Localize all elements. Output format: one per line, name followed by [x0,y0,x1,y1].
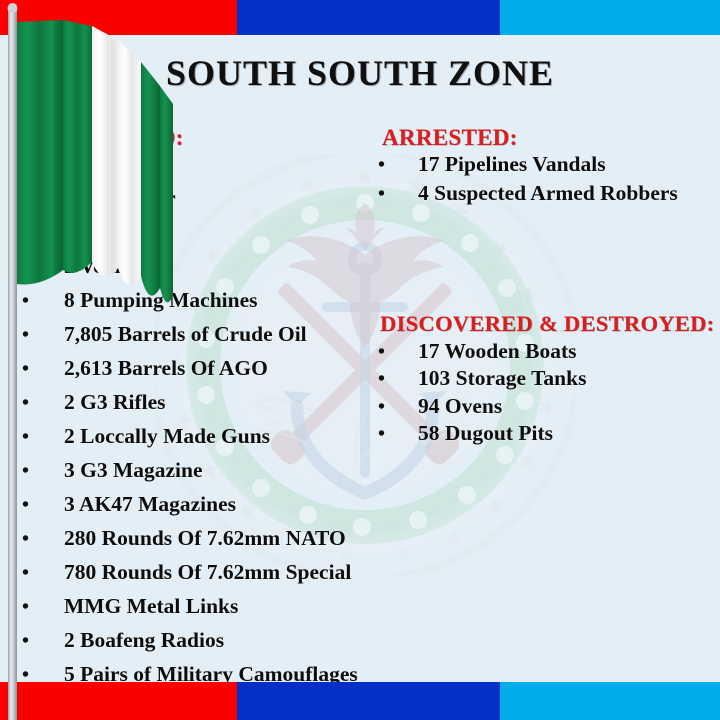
list-item-label: 103 Storage Tanks [418,368,720,390]
top-color-bar [0,0,720,35]
bullet-icon: • [22,291,64,311]
list-item: •2 Loccally Made Guns [22,426,402,448]
bullet-icon: • [22,359,64,379]
list-item-label: 1 Tanker [64,222,402,244]
bullet-icon: • [22,189,64,209]
list-item-label: 17 Wooden Boats [418,341,720,363]
list-item: •1 Generator [22,188,402,210]
bullet-icon: • [22,155,64,175]
list-item: •2 G3 Rifles [22,392,402,414]
list-item-label: 2 Boafeng Radios [64,630,402,652]
bullet-icon: • [22,257,64,277]
bullet-icon: • [378,342,418,362]
bullet-icon: • [22,563,64,583]
list-item: •1 Tanker [22,222,402,244]
list-item: •780 Trucks [22,154,402,176]
poster-canvas: SOUTH SOUTH ZONE RECOVERED: •780 Trucks … [0,0,720,720]
section-arrested-list: •17 Pipelines Vandals •4 Suspected Armed… [378,154,718,204]
list-item-label: 780 Rounds Of 7.62mm Special [64,562,402,584]
bullet-icon: • [378,184,418,204]
list-item: •MMG Metal Links [22,596,402,618]
bullet-icon: • [22,223,64,243]
bottom-bar-blue-segment [237,682,500,720]
top-bar-red-segment [0,0,237,35]
list-item-label: 7,805 Barrels of Crude Oil [64,324,402,346]
list-item: •2 Boafeng Radios [22,630,402,652]
list-item: •8 Pumping Machines [22,290,402,312]
list-item: •2,613 Barrels Of AGO [22,358,402,380]
list-item: •280 Rounds Of 7.62mm NATO [22,528,402,550]
bullet-icon: • [22,325,64,345]
section-recovered-list: •780 Trucks •1 Generator •1 Tanker •2 Ve… [22,154,402,720]
section-arrested: ARRESTED: •17 Pipelines Vandals •4 Suspe… [378,126,718,211]
list-item: •780 Rounds Of 7.62mm Special [22,562,402,584]
list-item-label: 58 Dugout Pits [418,423,720,445]
list-item-label: 2,613 Barrels Of AGO [64,358,402,380]
section-discovered-destroyed-list: •17 Wooden Boats •103 Storage Tanks •94 … [378,341,720,445]
bullet-icon: • [378,369,418,389]
list-item-label: 2 Loccally Made Guns [64,426,402,448]
poster-title: SOUTH SOUTH ZONE [0,52,720,94]
list-item: •4 Suspected Armed Robbers [378,183,718,205]
bullet-icon: • [22,631,64,651]
bullet-icon: • [22,529,64,549]
top-bar-cyan-segment [500,0,720,35]
bullet-icon: • [378,397,418,417]
bottom-bar-red-segment [0,682,237,720]
list-item: •58 Dugout Pits [378,423,720,445]
list-item: •3 AK47 Magazines [22,494,402,516]
bullet-icon: • [22,495,64,515]
bullet-icon: • [22,393,64,413]
list-item-label: 4 Suspected Armed Robbers [418,183,718,205]
list-item-label: 94 Ovens [418,396,720,418]
list-item-label: 280 Rounds Of 7.62mm NATO [64,528,402,550]
list-item-label: 2 Vehicles [64,256,402,278]
bullet-icon: • [378,424,418,444]
top-bar-blue-segment [237,0,500,35]
list-item: •17 Wooden Boats [378,341,720,363]
list-item-label: 8 Pumping Machines [64,290,402,312]
bullet-icon: • [22,427,64,447]
list-item: •3 G3 Magazine [22,460,402,482]
poster-title-text: SOUTH SOUTH ZONE [166,53,554,93]
bullet-icon: • [378,155,418,175]
list-item-label: MMG Metal Links [64,596,402,618]
bullet-icon: • [22,597,64,617]
section-arrested-heading: ARRESTED: [382,126,718,149]
list-item: •103 Storage Tanks [378,368,720,390]
list-item-label: 17 Pipelines Vandals [418,154,718,176]
list-item: •17 Pipelines Vandals [378,154,718,176]
list-item-label: 1 Generator [64,188,402,210]
list-item-label: 3 AK47 Magazines [64,494,402,516]
list-item-label: 780 Trucks [64,154,402,176]
list-item-label: 3 G3 Magazine [64,460,402,482]
section-discovered-destroyed: DISCOVERED & DESTROYED: •17 Wooden Boats… [378,313,720,451]
list-item: •7,805 Barrels of Crude Oil [22,324,402,346]
list-item: •94 Ovens [378,396,720,418]
list-item-label: 2 G3 Rifles [64,392,402,414]
section-discovered-destroyed-heading: DISCOVERED & DESTROYED: [380,313,720,336]
bullet-icon: • [22,461,64,481]
list-item: •2 Vehicles [22,256,402,278]
bottom-color-bar [0,682,720,720]
bottom-bar-cyan-segment [500,682,720,720]
section-recovered-heading: RECOVERED: [26,126,402,149]
section-recovered: RECOVERED: •780 Trucks •1 Generator •1 T… [22,126,402,720]
